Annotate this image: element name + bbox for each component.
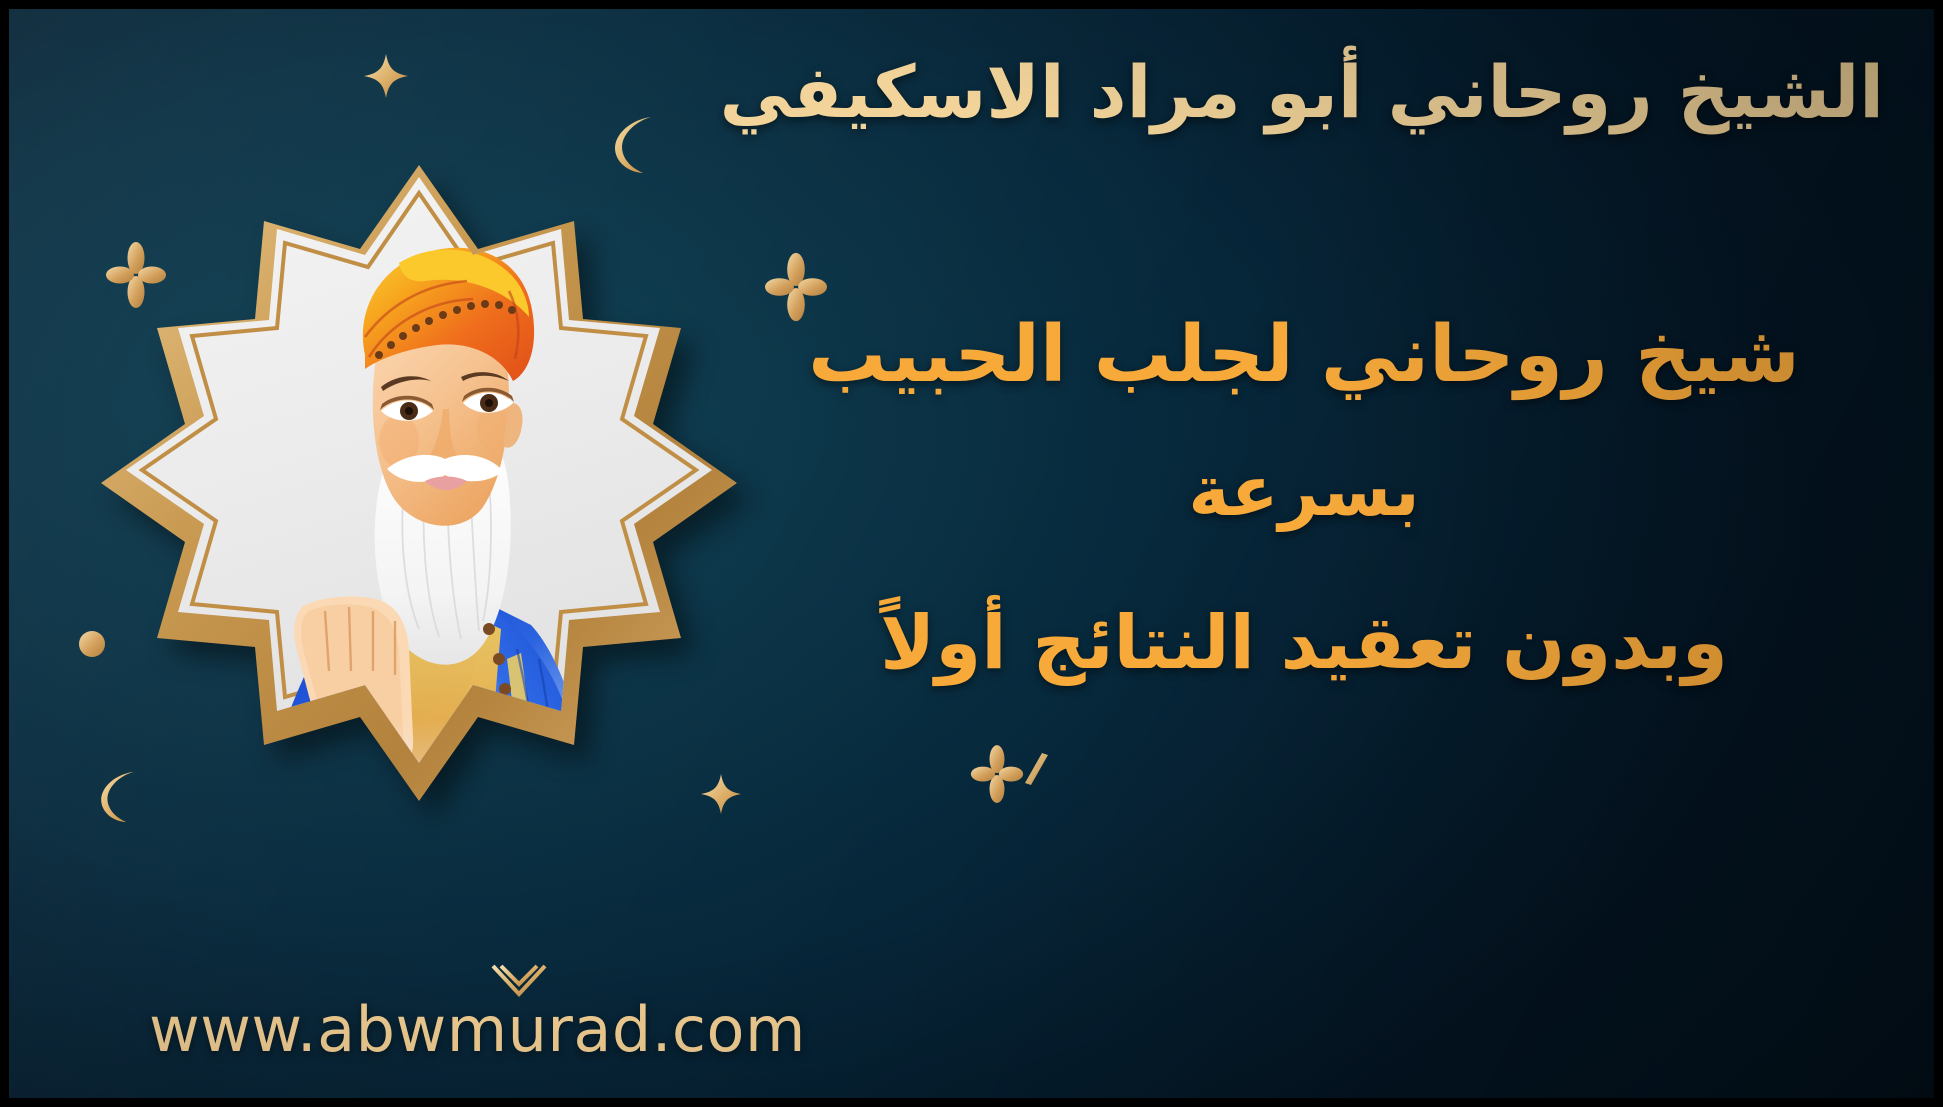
headline-line-3: وبدون تعقيد النتائج أولاً	[714, 599, 1894, 688]
page-title: الشيخ روحاني أبو مراد الاسكيفي	[724, 47, 1884, 137]
headline-line-2: بسرعة	[714, 449, 1894, 533]
headline-line-1: شيخ روحاني لجلب الحبيب	[714, 309, 1894, 403]
website-url[interactable]: www.abwmurad.com	[149, 993, 806, 1066]
text-column: الشيخ روحاني أبو مراد الاسكيفي شيخ روحان…	[714, 9, 1894, 1098]
promo-banner: الشيخ روحاني أبو مراد الاسكيفي شيخ روحان…	[0, 0, 1943, 1107]
portrait-medallion	[69, 159, 769, 859]
medallion-star-frame	[69, 159, 769, 859]
